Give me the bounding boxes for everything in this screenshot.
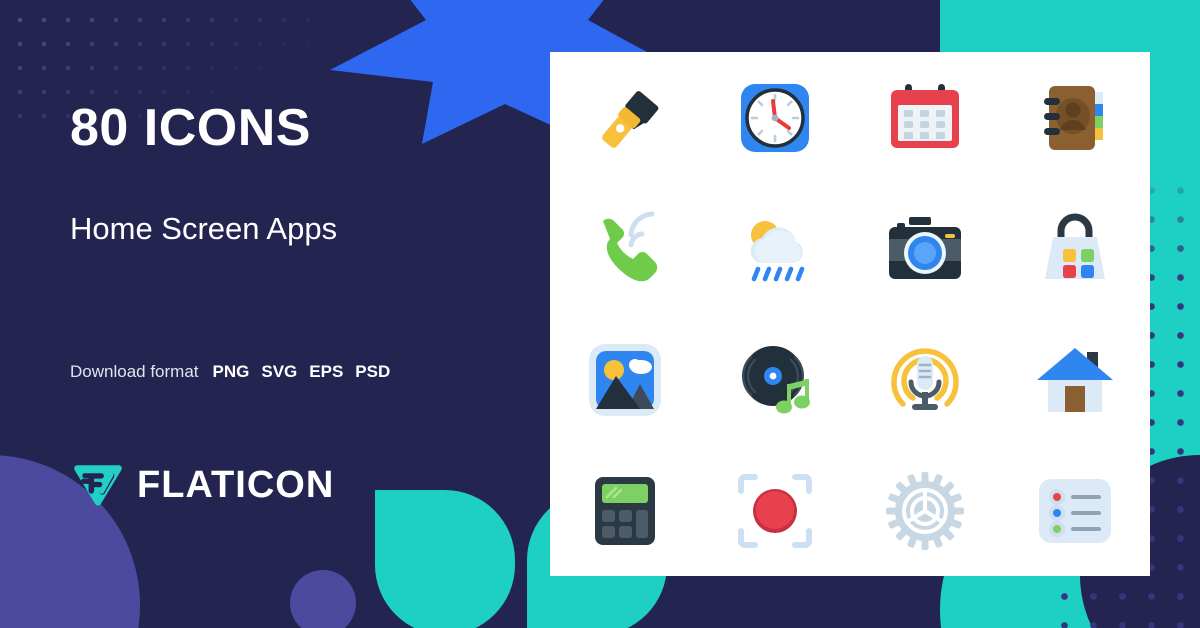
list-menu-icon xyxy=(1033,469,1117,553)
icon-cell-gallery[interactable] xyxy=(550,314,700,445)
format-png[interactable]: PNG xyxy=(213,362,250,382)
icon-cell-screen-record[interactable] xyxy=(700,445,850,576)
icon-cell-clock[interactable] xyxy=(700,52,850,183)
app-store-bag-icon xyxy=(1033,207,1117,291)
icon-cell-settings[interactable] xyxy=(850,445,1000,576)
settings-gear-icon xyxy=(883,469,967,553)
phone-call-icon xyxy=(583,207,667,291)
calendar-icon xyxy=(883,76,967,160)
music-vinyl-icon xyxy=(733,338,817,422)
brand-name: FLATICON xyxy=(137,464,334,507)
format-psd[interactable]: PSD xyxy=(355,362,390,382)
icon-cell-phone[interactable] xyxy=(550,183,700,314)
brand-logo[interactable]: FLATICON xyxy=(73,462,334,508)
calculator-icon xyxy=(583,469,667,553)
camera-icon xyxy=(883,207,967,291)
banner-text-column: 80 ICONS Home Screen Apps Download forma… xyxy=(70,0,540,628)
home-house-icon xyxy=(1033,338,1117,422)
icon-cell-weather[interactable] xyxy=(700,183,850,314)
weather-rain-icon xyxy=(733,207,817,291)
icon-cell-calculator[interactable] xyxy=(550,445,700,576)
clock-icon xyxy=(733,76,817,160)
format-svg[interactable]: SVG xyxy=(261,362,297,382)
gallery-photo-icon xyxy=(583,338,667,422)
icon-cell-flashlight[interactable] xyxy=(550,52,700,183)
page-subtitle: Home Screen Apps xyxy=(70,212,337,246)
page-title: 80 ICONS xyxy=(70,102,311,154)
icon-cell-contacts[interactable] xyxy=(1000,52,1150,183)
download-format-list: PNG SVG EPS PSD xyxy=(213,362,391,382)
icon-cell-app-store[interactable] xyxy=(1000,183,1150,314)
flashlight-icon xyxy=(583,76,667,160)
contacts-book-icon xyxy=(1033,76,1117,160)
screen-record-icon xyxy=(733,469,817,553)
podcast-microphone-icon xyxy=(883,338,967,422)
icon-cell-camera[interactable] xyxy=(850,183,1000,314)
icon-grid xyxy=(550,52,1150,576)
icon-cell-calendar[interactable] xyxy=(850,52,1000,183)
icon-cell-podcast[interactable] xyxy=(850,314,1000,445)
icon-cell-home[interactable] xyxy=(1000,314,1150,445)
format-eps[interactable]: EPS xyxy=(309,362,343,382)
icon-cell-music[interactable] xyxy=(700,314,850,445)
flaticon-logo-icon xyxy=(73,462,123,508)
icon-cell-list[interactable] xyxy=(1000,445,1150,576)
promo-banner: 80 ICONS Home Screen Apps Download forma… xyxy=(0,0,1200,628)
download-format-row: Download format PNG SVG EPS PSD xyxy=(70,362,390,382)
icon-preview-card xyxy=(550,52,1150,576)
download-format-label: Download format xyxy=(70,362,199,382)
